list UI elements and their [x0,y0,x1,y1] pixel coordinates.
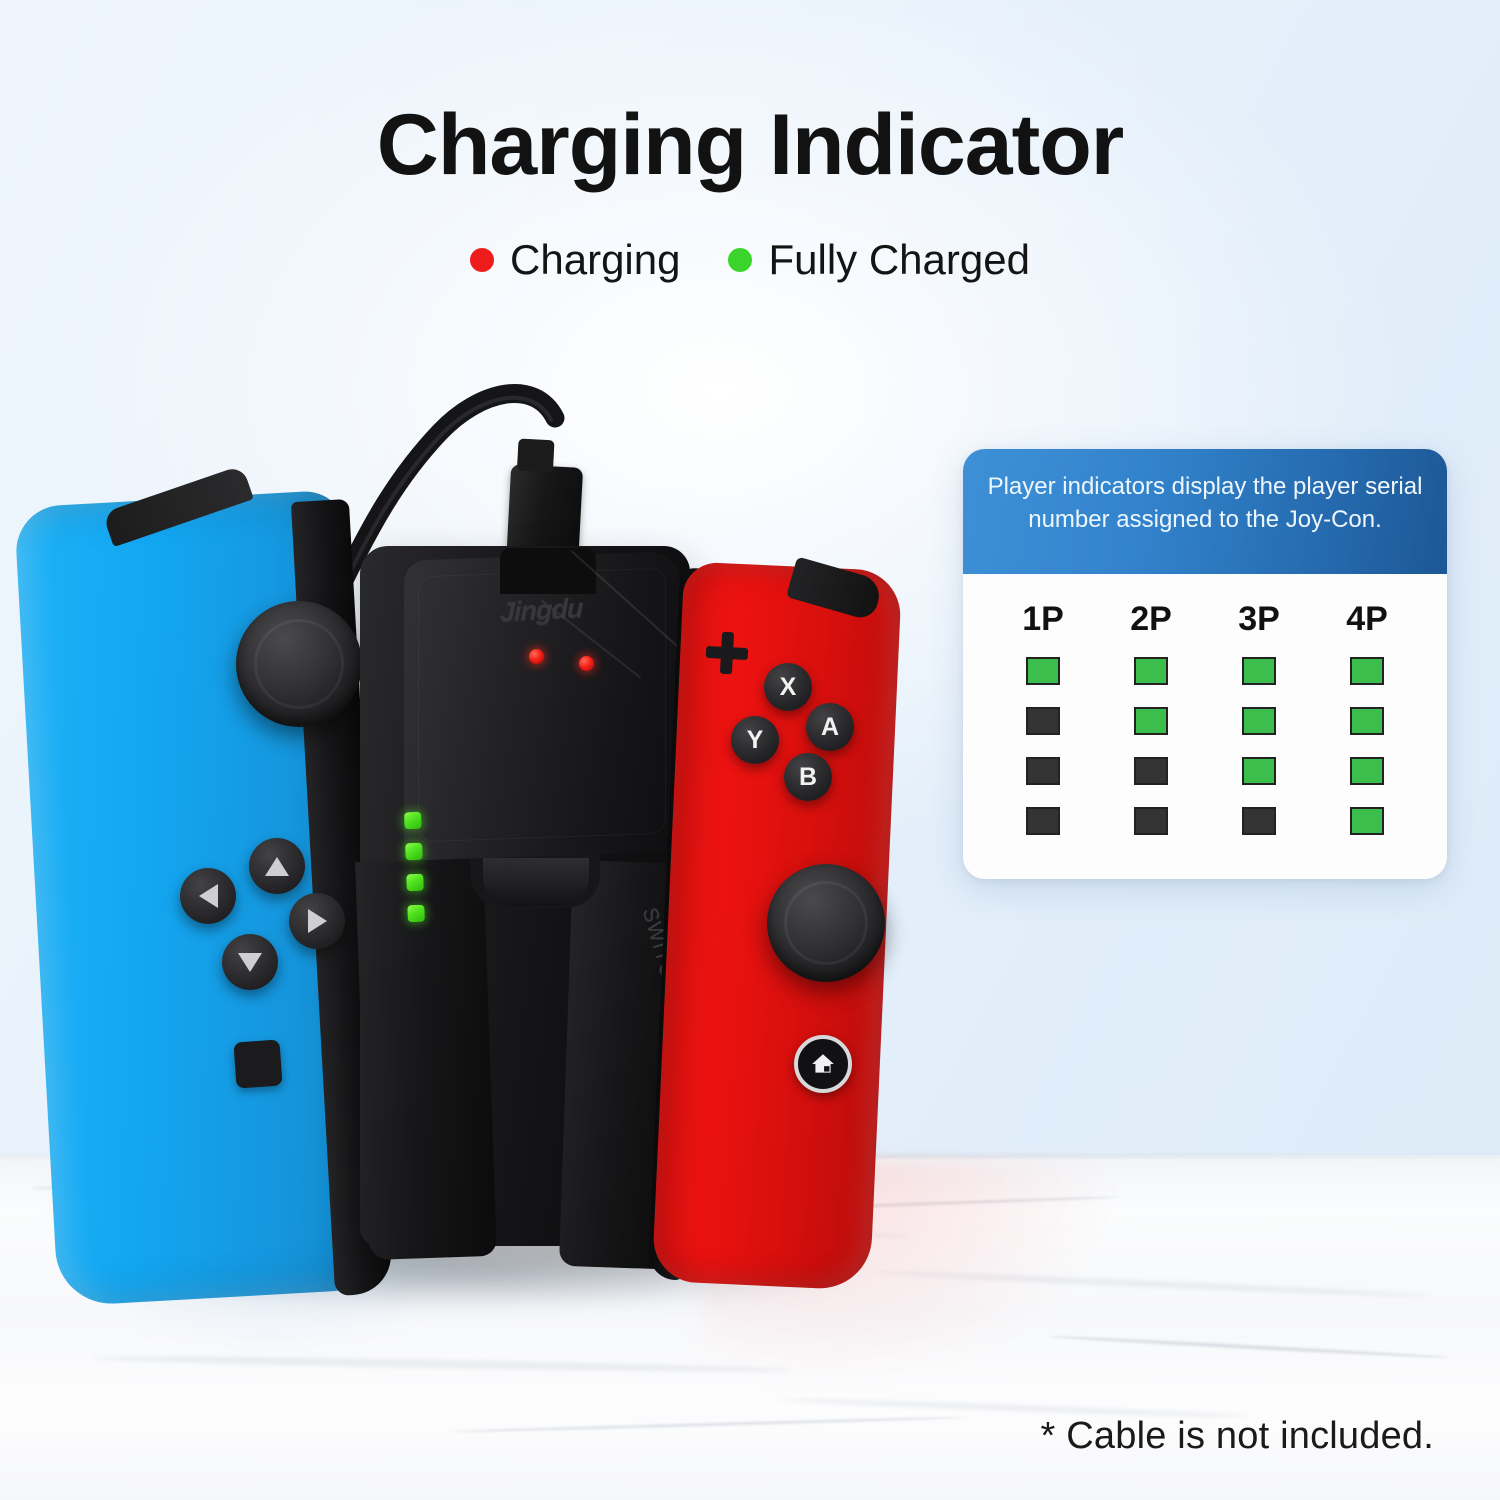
player-column-4p: 4P [1346,600,1388,857]
down-arrow-button[interactable] [222,934,278,990]
player-led-off [1026,707,1060,735]
player-led-on [1134,657,1168,685]
home-icon [810,1051,836,1077]
player-led-on [1350,757,1384,785]
player-led-off [1242,807,1276,835]
player-column-2p: 2P [1130,600,1172,857]
player-column-1p: 1P [1022,600,1064,857]
player-indicator-card: Player indicators display the player ser… [963,449,1447,879]
left-analog-stick[interactable] [236,601,362,727]
right-analog-stick[interactable] [767,864,885,982]
player-led-off [1134,807,1168,835]
green-led [407,905,425,923]
capture-button[interactable] [233,1039,282,1088]
player-led-on [1026,657,1060,685]
b-button[interactable]: B [784,753,832,801]
player-column-label: 2P [1130,600,1172,639]
player-led-off [1026,807,1060,835]
left-arrow-button[interactable] [180,868,236,924]
card-body: 1P2P3P4P [963,574,1447,857]
player-indicator-grid: 1P2P3P4P [963,600,1447,857]
plus-button[interactable] [705,631,749,675]
player-led-on [1350,807,1384,835]
green-led [405,843,423,861]
player-column-label: 4P [1346,600,1388,639]
charging-red-led-2 [579,656,594,671]
player-led-on [1242,707,1276,735]
player-led-off [1134,757,1168,785]
home-button[interactable] [794,1035,852,1093]
brand-logo: Jingdu [500,591,624,631]
player-column-label: 1P [1022,600,1064,639]
player-led-on [1242,757,1276,785]
up-arrow-icon [265,857,289,876]
right-arrow-button[interactable] [289,893,345,949]
up-arrow-button[interactable] [249,838,305,894]
card-header-text: Player indicators display the player ser… [983,471,1427,536]
green-led [404,812,422,830]
a-button[interactable]: A [806,703,854,751]
player-led-on [1350,657,1384,685]
charging-red-led-1 [529,649,544,664]
x-button[interactable]: X [764,663,812,711]
down-arrow-icon [238,953,262,972]
player-led-on [1242,657,1276,685]
left-arrow-icon [199,884,218,908]
card-header: Player indicators display the player ser… [963,449,1447,574]
player-led-off [1026,757,1060,785]
player-led-on [1134,707,1168,735]
y-button[interactable]: Y [731,716,779,764]
handle-leg-inner-shade [483,858,589,906]
green-led [406,874,424,892]
footnote-cable-not-included: * Cable is not included. [1041,1415,1434,1458]
handle-leg-left [355,858,497,1260]
player-column-3p: 3P [1238,600,1280,857]
player-led-on [1350,707,1384,735]
handle-cable-port [500,548,596,594]
right-arrow-icon [308,909,327,933]
player-column-label: 3P [1238,600,1280,639]
